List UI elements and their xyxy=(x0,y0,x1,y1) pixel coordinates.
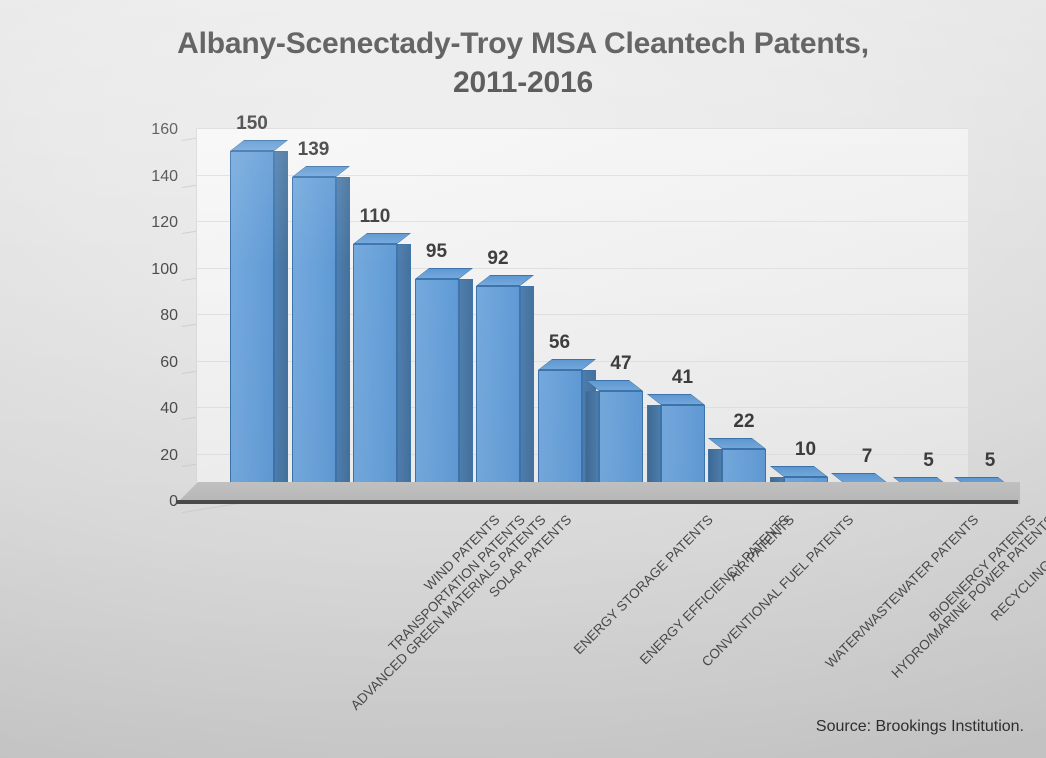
y-axis-tick-100: 100 xyxy=(151,261,178,279)
category-label-4: ENERGY STORAGE PATENTS xyxy=(571,512,716,657)
bar-side-face xyxy=(520,286,534,500)
bar-value-label: 95 xyxy=(426,241,447,263)
bar-top-face xyxy=(708,438,766,449)
bar-value-label: 5 xyxy=(985,450,996,472)
bar-top-face xyxy=(646,394,704,405)
category-label-0: ADVANCED GREEN MATERIALS PATENTS xyxy=(348,512,549,713)
bar-value-label: 56 xyxy=(549,332,570,354)
plot-area: 15013911095925647412210755 xyxy=(196,128,968,500)
category-label-10: BIOENERGY PATENTS xyxy=(926,512,1038,624)
bar-value-label: 41 xyxy=(672,367,693,389)
y-axis-tick-120: 120 xyxy=(151,214,178,232)
bar-front-face xyxy=(415,279,459,500)
bar-value-label: 47 xyxy=(610,353,631,375)
y-axis-tick-80: 80 xyxy=(160,307,178,325)
bar-1[interactable]: 139 xyxy=(292,177,336,500)
bar-3[interactable]: 95 xyxy=(415,279,459,500)
bar-front-face xyxy=(538,370,582,500)
bar-value-label: 7 xyxy=(862,446,873,468)
bar-value-label: 10 xyxy=(795,439,816,461)
bar-value-label: 5 xyxy=(923,450,934,472)
bar-top-face xyxy=(769,466,827,477)
bar-side-face xyxy=(459,279,473,500)
bar-value-label: 150 xyxy=(236,113,268,135)
bar-side-face xyxy=(336,177,350,500)
chart-floor xyxy=(176,482,1020,504)
bar-front-face xyxy=(230,151,274,500)
bar-front-face xyxy=(292,177,336,500)
bar-5[interactable]: 56 xyxy=(538,370,582,500)
y-axis-tick-140: 140 xyxy=(151,168,178,186)
bar-top-face xyxy=(476,275,534,286)
slide-canvas: Albany-Scenectady-Troy MSA Cleantech Pat… xyxy=(0,0,1046,758)
bar-side-face xyxy=(397,244,411,500)
category-axis-line xyxy=(176,500,1018,504)
bar-value-label: 139 xyxy=(298,139,330,161)
bar-value-label: 22 xyxy=(733,411,754,433)
bar-0[interactable]: 150 xyxy=(230,151,274,500)
bar-top-face xyxy=(353,233,411,244)
y-axis-tick-160: 160 xyxy=(151,121,178,139)
bar-front-face xyxy=(476,286,520,500)
gridline-160 xyxy=(197,128,968,129)
bar-4[interactable]: 92 xyxy=(476,286,520,500)
y-axis-tick-60: 60 xyxy=(160,354,178,372)
y-axis-tick-40: 40 xyxy=(160,400,178,418)
y-axis: 020406080100120140160 xyxy=(120,0,178,758)
bar-side-face xyxy=(274,151,288,500)
bar-front-face xyxy=(353,244,397,500)
bar-top-face xyxy=(230,140,288,151)
bar-value-label: 110 xyxy=(360,206,391,228)
y-axis-tick-20: 20 xyxy=(160,447,178,465)
source-note: Source: Brookings Institution. xyxy=(816,718,1024,736)
bar-value-label: 92 xyxy=(487,248,508,270)
bar-top-face xyxy=(415,268,473,279)
bar-2[interactable]: 110 xyxy=(353,244,397,500)
